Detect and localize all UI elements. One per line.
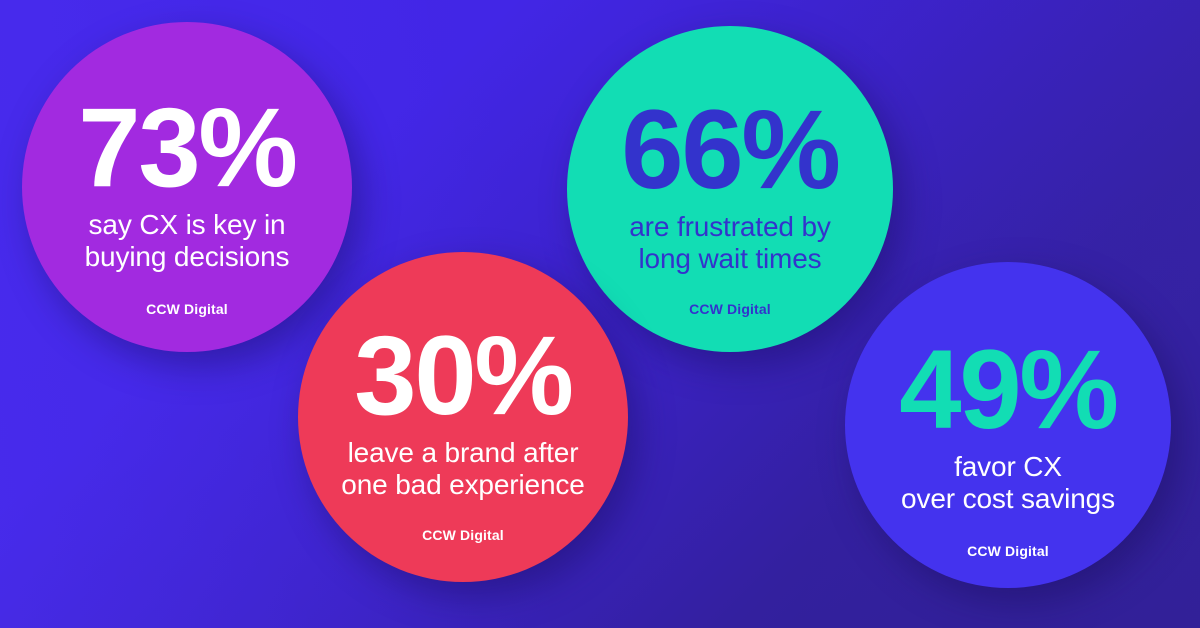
stat-percent-30: 30% [354, 324, 571, 427]
stat-brand-73: CCW Digital [146, 301, 228, 317]
stat-percent-66: 66% [621, 98, 838, 201]
stat-bubble-49: 49% favor CX over cost savings CCW Digit… [845, 262, 1171, 588]
stat-label-30: leave a brand after one bad experience [341, 437, 584, 501]
stat-brand-49: CCW Digital [967, 543, 1049, 559]
stat-label-73: say CX is key in buying decisions [85, 209, 290, 273]
stat-bubble-30: 30% leave a brand after one bad experien… [298, 252, 628, 582]
stat-percent-73: 73% [78, 96, 295, 199]
infographic-canvas: 73% say CX is key in buying decisions CC… [0, 0, 1200, 628]
stat-brand-66: CCW Digital [689, 301, 771, 317]
stat-bubble-66: 66% are frustrated by long wait times CC… [567, 26, 893, 352]
stat-bubble-73: 73% say CX is key in buying decisions CC… [22, 22, 352, 352]
stat-brand-30: CCW Digital [422, 527, 504, 543]
stat-percent-49: 49% [899, 338, 1116, 441]
stat-label-49: favor CX over cost savings [901, 451, 1115, 515]
stat-label-66: are frustrated by long wait times [629, 211, 831, 275]
